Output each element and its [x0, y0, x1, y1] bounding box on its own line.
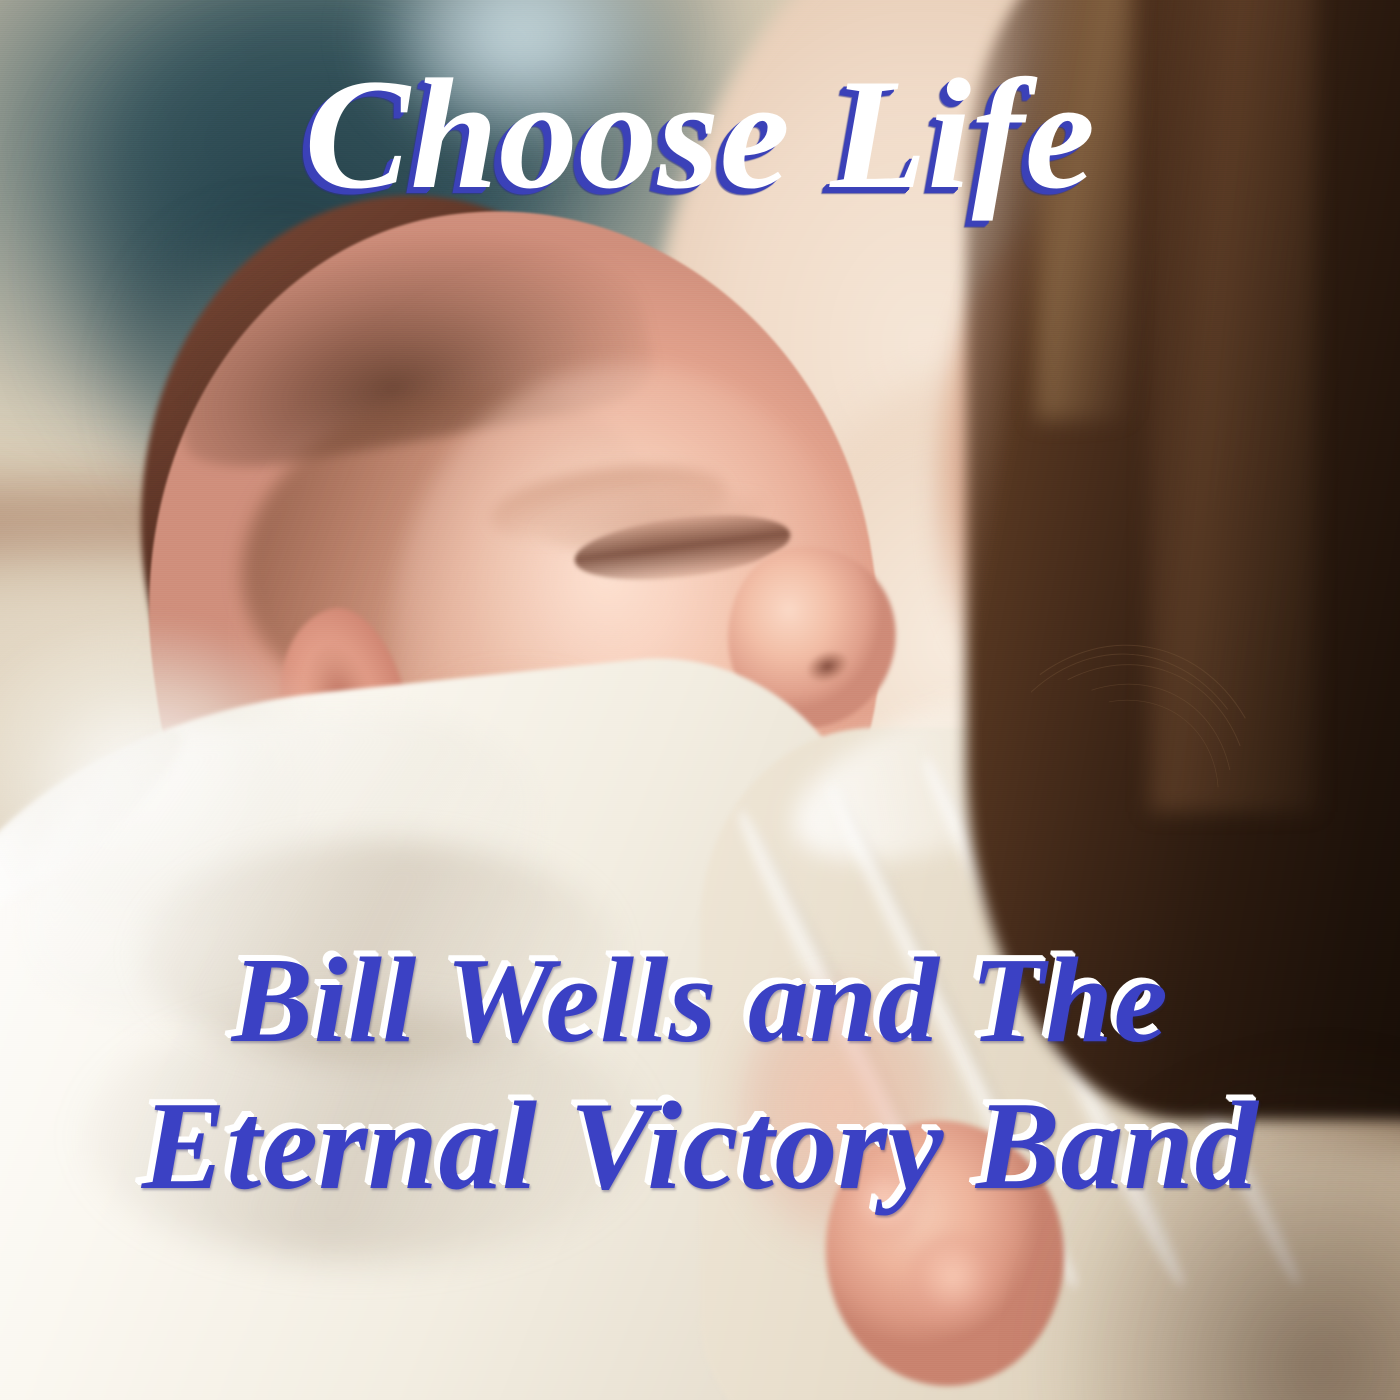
loose-hair-wisps — [937, 615, 1302, 980]
cover-photograph — [0, 0, 1400, 1400]
album-cover: Choose Life Bill Wells and The Eternal V… — [0, 0, 1400, 1400]
mother-hair-strand — [1036, 0, 1134, 420]
swaddle-shadow-lower — [84, 1008, 644, 1260]
corner-vignette — [1036, 1064, 1400, 1400]
background-window-patch — [364, 0, 672, 154]
baby-knuckle — [903, 1232, 1015, 1344]
